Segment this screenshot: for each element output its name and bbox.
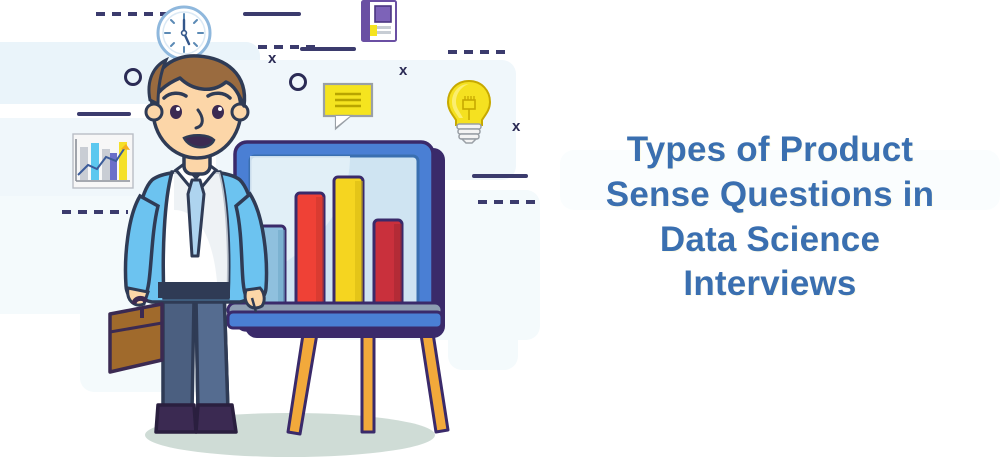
man-belt bbox=[158, 282, 230, 298]
dash-line-4 bbox=[448, 50, 508, 54]
title-line-3: Data Science bbox=[560, 218, 980, 263]
page-title: Types of Product Sense Questions in Data… bbox=[560, 128, 980, 307]
clock-icon bbox=[155, 4, 213, 62]
solid-line-2 bbox=[300, 47, 356, 51]
briefcase-icon bbox=[110, 298, 162, 372]
title-line-4: Interviews bbox=[560, 262, 980, 307]
book-icon bbox=[357, 0, 403, 44]
businessman-easel-illustration bbox=[100, 60, 500, 460]
man-shoes bbox=[156, 405, 236, 432]
solid-line-1 bbox=[243, 12, 301, 16]
man-legs bbox=[163, 290, 228, 412]
title-line-1: Types of Product bbox=[560, 128, 980, 173]
title-line-2: Sense Questions in bbox=[560, 173, 980, 218]
illustration-banner: x x x bbox=[0, 0, 1000, 461]
x-mark-3: x bbox=[512, 118, 520, 135]
